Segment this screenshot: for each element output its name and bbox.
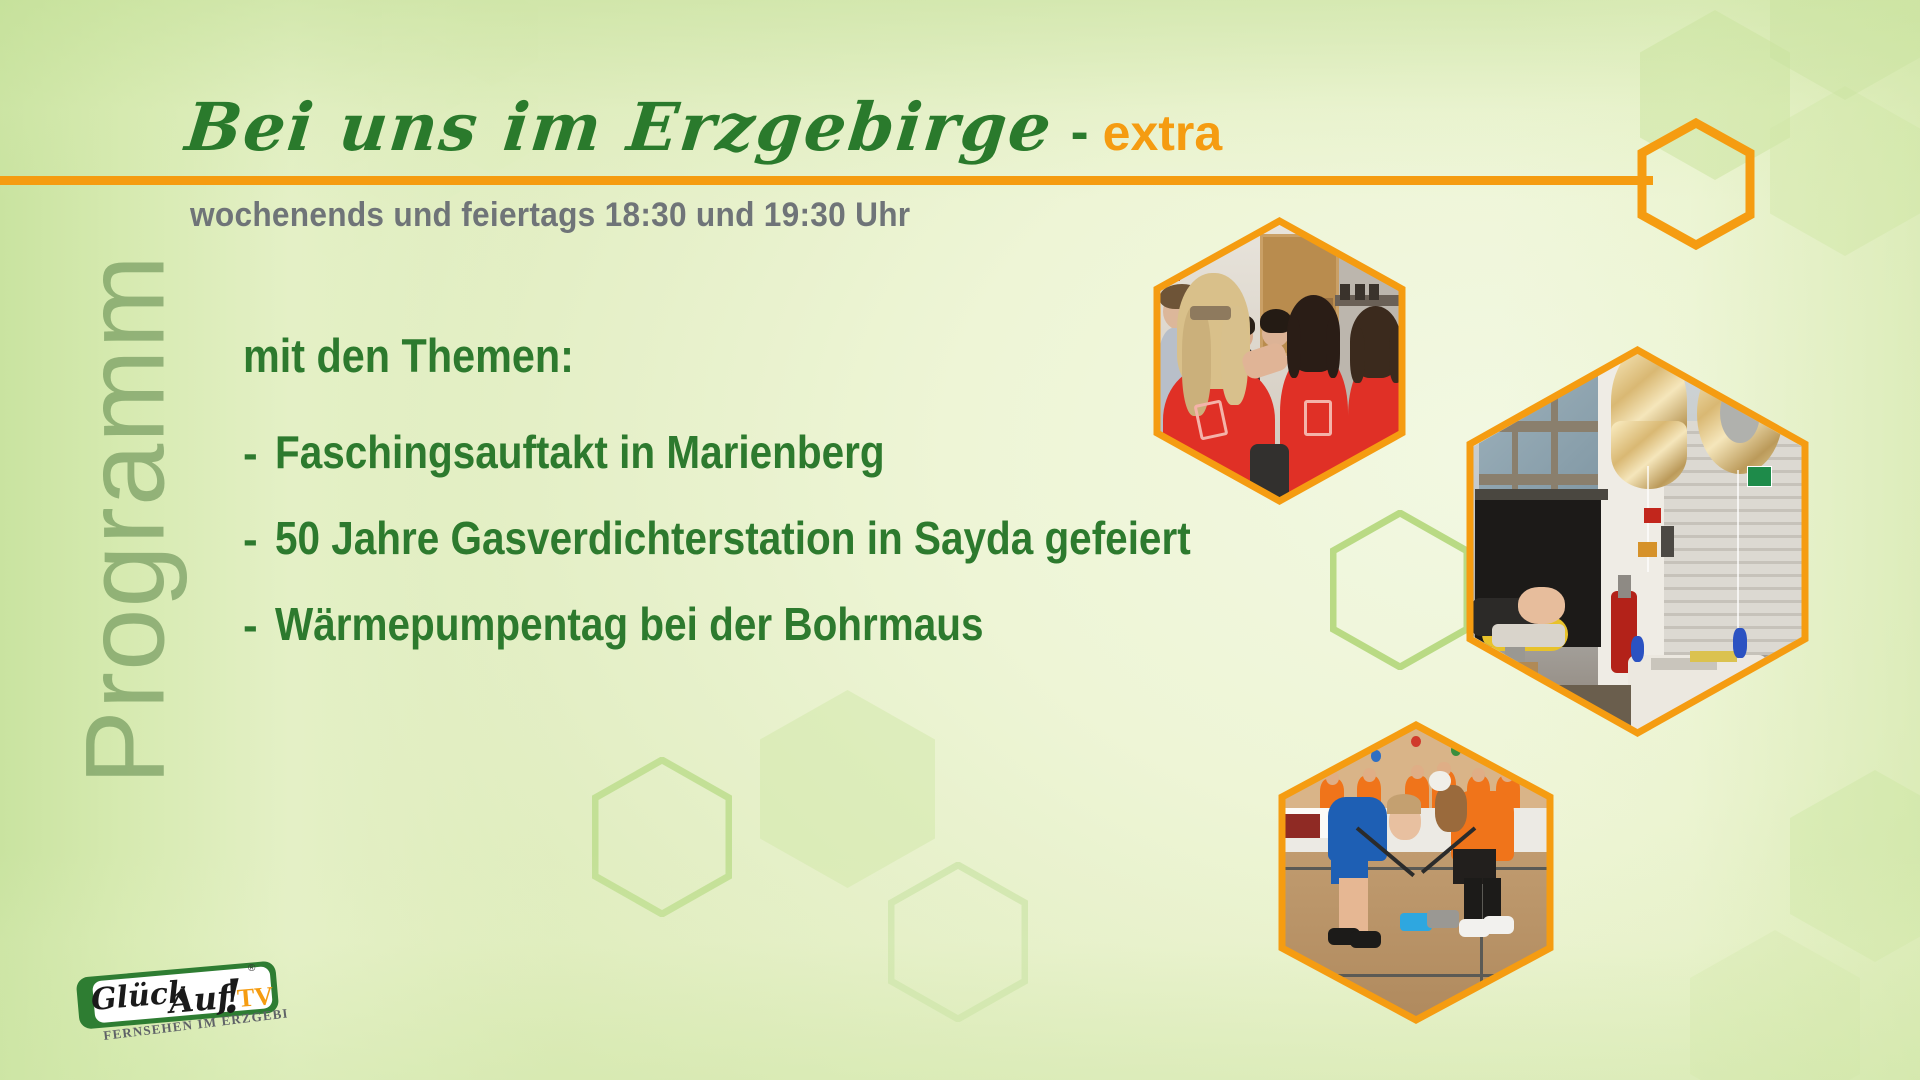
broadcast-program-slide: Programm Bei uns im Erzgebirge - extra w… bbox=[0, 0, 1920, 1080]
list-item: - Faschingsauftakt in Marienberg bbox=[243, 425, 1316, 479]
topics-intro-label: mit den Themen: bbox=[243, 328, 574, 383]
topic-label: Faschingsauftakt in Marienberg bbox=[275, 425, 885, 479]
topics-list: - Faschingsauftakt in Marienberg - 50 Ja… bbox=[243, 425, 1316, 683]
show-title: Bei uns im Erzgebirge - extra bbox=[186, 88, 1222, 166]
photo-floorball-frame bbox=[1277, 720, 1555, 1025]
topic-label: Wärmepumpentag bei der Bohrmaus bbox=[275, 597, 984, 651]
background-bottom-fade bbox=[0, 850, 1920, 1080]
header-hexagon-accent-icon bbox=[1637, 118, 1755, 255]
programm-vertical-label: Programm bbox=[61, 210, 190, 830]
list-item: - 50 Jahre Gasverdichterstation in Sayda… bbox=[243, 511, 1316, 565]
photo-floorball bbox=[1277, 720, 1555, 1025]
bullet-dash-icon: - bbox=[243, 429, 275, 479]
broadcast-time-subtitle: wochenends und feiertags 18:30 und 19:30… bbox=[190, 196, 910, 235]
show-title-extra: extra bbox=[1103, 104, 1223, 162]
header-divider-line bbox=[0, 176, 1653, 185]
glueckauf-tv-logo[interactable]: Glück Auf ! ® TV FERNSEHEN IM ERZGEBIRGE bbox=[72, 955, 287, 1047]
photo-gasverdichterstation bbox=[1465, 345, 1810, 738]
photo-gasverdichterstation-frame bbox=[1465, 345, 1810, 738]
bullet-dash-icon: - bbox=[243, 515, 275, 565]
topic-label: 50 Jahre Gasverdichterstation in Sayda g… bbox=[275, 511, 1191, 565]
show-title-dash: - bbox=[1071, 101, 1089, 163]
decorative-hexagon-outline-1 bbox=[1330, 510, 1470, 670]
bullet-dash-icon: - bbox=[243, 601, 275, 651]
show-title-main: Bei uns im Erzgebirge bbox=[182, 88, 1057, 166]
list-item: - Wärmepumpentag bei der Bohrmaus bbox=[243, 597, 1316, 651]
logo-registered-mark: ® bbox=[248, 963, 256, 974]
